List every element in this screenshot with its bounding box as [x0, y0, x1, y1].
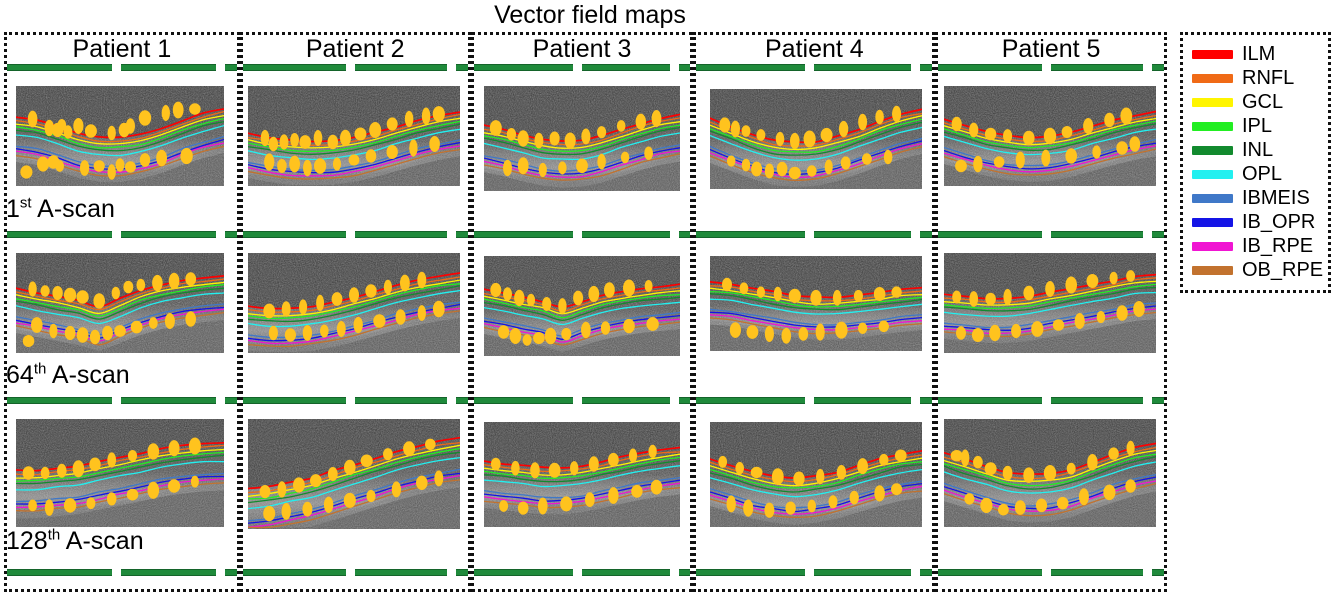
- row-label-64th-a-scan: 64th A-scan: [6, 362, 130, 389]
- vector-field-marker: [263, 506, 275, 521]
- vector-field-marker: [854, 290, 863, 302]
- patient-column-4[interactable]: Patient 4: [693, 32, 935, 592]
- legend-item-ib_opr[interactable]: IB_OPR: [1183, 210, 1328, 234]
- green-segment: [474, 569, 573, 576]
- vector-field-marker: [1053, 319, 1064, 331]
- vector-field-marker: [126, 118, 135, 134]
- legend-color-swatch: [1192, 266, 1233, 275]
- vector-field-marker: [576, 159, 588, 174]
- legend-item-gcl[interactable]: GCL: [1183, 90, 1328, 114]
- vector-field-marker: [558, 298, 566, 314]
- vector-field-marker: [517, 157, 528, 174]
- vector-field-marker: [517, 502, 528, 515]
- oct-b-scan-image[interactable]: [710, 256, 922, 351]
- vector-field-marker: [1117, 141, 1129, 154]
- vector-field-marker: [858, 323, 867, 334]
- green-segment-bar: [474, 397, 691, 404]
- vector-field-marker: [112, 287, 120, 300]
- vector-field-marker: [425, 439, 436, 450]
- vector-field-marker: [530, 462, 540, 478]
- vector-field-marker: [114, 325, 126, 337]
- vector-field-marker: [327, 135, 338, 150]
- oct-b-scan-image[interactable]: [484, 422, 680, 527]
- vector-field-marker: [829, 495, 838, 508]
- vector-field-marker: [259, 485, 270, 498]
- green-segment: [7, 231, 112, 238]
- vector-field-marker: [955, 160, 967, 172]
- row-label-128th-a-scan: 128th A-scan: [6, 528, 144, 555]
- vector-field-marker: [544, 328, 556, 345]
- vector-field-marker: [646, 317, 658, 331]
- vector-field-marker: [148, 443, 160, 459]
- patient-column-1[interactable]: Patient 1: [4, 32, 240, 592]
- vector-field-marker: [558, 161, 566, 174]
- oct-b-scan-image[interactable]: [16, 86, 224, 186]
- vector-field-marker: [429, 136, 440, 152]
- vector-field-marker: [859, 114, 868, 131]
- vector-field-marker: [73, 118, 83, 134]
- vector-field-marker: [93, 293, 105, 309]
- green-segment: [474, 397, 573, 404]
- vector-field-marker: [405, 111, 414, 127]
- vector-field-marker: [499, 500, 508, 512]
- green-segment-bar: [474, 231, 691, 238]
- vector-field-marker: [28, 281, 36, 296]
- legend-label: RNFL: [1242, 67, 1294, 89]
- vector-field-marker: [989, 325, 1000, 341]
- vector-field-marker: [522, 334, 531, 345]
- vector-field-marker: [1066, 148, 1078, 163]
- legend-label: ILM: [1242, 43, 1275, 65]
- vector-field-marker: [1097, 311, 1106, 323]
- vector-field-marker: [73, 460, 85, 477]
- vector-field-marker: [1036, 499, 1047, 513]
- vector-field-marker: [395, 309, 405, 325]
- green-segment: [121, 397, 216, 404]
- vector-field-marker: [497, 325, 508, 339]
- vector-field-marker: [608, 487, 618, 504]
- green-segment: [920, 569, 932, 576]
- oct-b-scan-image[interactable]: [248, 86, 460, 186]
- vector-field-marker: [774, 287, 782, 301]
- vector-field-marker: [1024, 286, 1035, 300]
- vector-field-marker: [94, 160, 105, 172]
- vector-field-marker: [985, 462, 997, 475]
- green-segment-bar: [243, 231, 468, 238]
- oct-b-scan-image[interactable]: [248, 419, 460, 529]
- vector-field-marker: [821, 128, 833, 142]
- green-segment: [225, 64, 237, 71]
- vector-field-marker: [1023, 131, 1035, 145]
- vector-field-marker: [1117, 305, 1128, 320]
- vector-field-marker: [956, 326, 966, 340]
- vector-field-marker: [169, 440, 180, 456]
- vector-field-marker: [148, 482, 160, 499]
- vector-field-marker: [635, 114, 645, 130]
- vector-field-marker: [644, 147, 653, 160]
- vector-field-marker: [299, 135, 311, 149]
- vector-field-marker: [833, 290, 842, 306]
- green-segment: [582, 231, 670, 238]
- vector-field-marker: [314, 158, 326, 174]
- vector-field-marker: [1031, 321, 1043, 337]
- vector-field-marker: [514, 290, 524, 306]
- vector-field-marker: [324, 497, 333, 513]
- oct-b-scan-image[interactable]: [710, 89, 922, 189]
- green-segment-bar: [7, 231, 237, 238]
- vector-field-marker: [23, 466, 35, 480]
- vector-field-marker: [588, 286, 599, 302]
- vector-field-marker: [581, 322, 591, 338]
- green-segment-bar: [938, 397, 1164, 404]
- vector-field-marker: [526, 294, 534, 306]
- vector-field-marker: [264, 153, 274, 170]
- vector-field-marker: [1003, 129, 1012, 143]
- vector-field-marker: [354, 128, 366, 141]
- vector-field-marker: [757, 129, 766, 141]
- vector-field-marker: [965, 493, 975, 504]
- vector-field-marker: [365, 149, 376, 162]
- oct-b-scan-image[interactable]: [484, 256, 680, 356]
- vector-field-marker: [794, 472, 805, 486]
- vector-field-marker: [136, 279, 145, 291]
- vector-field-marker: [752, 162, 763, 177]
- green-segment: [225, 569, 237, 576]
- green-segment: [243, 64, 346, 71]
- vector-field-marker: [720, 117, 731, 132]
- vector-field-marker: [799, 327, 809, 341]
- legend-label: IB_OPR: [1242, 211, 1315, 233]
- green-segment: [679, 231, 691, 238]
- green-segment: [582, 569, 670, 576]
- vector-field-marker: [185, 311, 196, 326]
- vector-field-marker: [503, 160, 512, 176]
- vector-field-marker: [892, 106, 901, 122]
- layer-legend: ILMRNFLGCLIPLINLOPLIBMEISIB_OPRIB_RPEOB_…: [1180, 32, 1331, 293]
- scan-cell-p4-r1[interactable]: [696, 64, 932, 231]
- vector-field-marker: [1015, 500, 1026, 515]
- vector-field-marker: [1016, 152, 1025, 169]
- scan-cell-p4-r3[interactable]: [696, 397, 932, 567]
- green-segment-bar: [696, 569, 932, 576]
- vector-field-marker: [623, 280, 635, 297]
- green-segment-bar: [696, 397, 932, 404]
- vector-field-marker: [876, 110, 885, 125]
- legend-item-opl[interactable]: OPL: [1183, 162, 1328, 186]
- vector-field-marker: [320, 325, 329, 338]
- green-segment: [920, 64, 932, 71]
- vector-field-marker: [107, 492, 117, 505]
- vector-field-marker: [65, 326, 76, 340]
- legend-item-ipl[interactable]: IPL: [1183, 114, 1328, 138]
- vector-field-marker: [64, 288, 76, 303]
- legend-item-rnfl[interactable]: RNFL: [1183, 66, 1328, 90]
- oct-b-scan-image[interactable]: [16, 253, 224, 353]
- vector-field-marker: [434, 470, 443, 486]
- vector-field-marker: [302, 325, 311, 341]
- vector-field-marker: [597, 154, 606, 170]
- vector-field-marker: [952, 291, 961, 304]
- vector-field-marker: [169, 273, 180, 290]
- vector-field-marker: [1024, 467, 1035, 483]
- vector-field-marker: [340, 130, 351, 146]
- vector-field-marker: [961, 450, 969, 467]
- vector-field-marker: [102, 326, 113, 341]
- patient-column-2[interactable]: Patient 2: [240, 32, 471, 592]
- vector-field-marker: [509, 328, 521, 344]
- vector-field-marker: [409, 139, 417, 156]
- vector-field-marker: [348, 154, 359, 165]
- vector-field-marker: [727, 495, 736, 512]
- vector-field-marker: [570, 461, 578, 475]
- green-segment: [456, 231, 468, 238]
- scan-cell-p2-r1[interactable]: [243, 64, 468, 231]
- green-segment: [1152, 569, 1164, 576]
- vector-field-marker: [884, 150, 893, 164]
- vector-field-marker: [862, 153, 872, 164]
- vector-field-marker: [777, 162, 788, 176]
- vector-field-marker: [969, 123, 978, 138]
- scan-cell-p5-r2[interactable]: [938, 231, 1164, 397]
- vector-field-marker: [149, 317, 158, 329]
- vector-field-marker: [162, 105, 170, 121]
- vector-field-marker: [644, 280, 652, 292]
- legend-label: IBMEIS: [1242, 187, 1310, 209]
- vector-field-marker: [337, 321, 346, 337]
- vector-field-marker: [417, 305, 425, 321]
- vector-field-marker: [383, 448, 393, 460]
- vector-field-marker: [816, 323, 825, 340]
- legend-item-ib_rpe[interactable]: IB_RPE: [1183, 234, 1328, 258]
- row-label-number: 1: [6, 195, 20, 223]
- green-segment: [582, 64, 670, 71]
- legend-label: IB_RPE: [1242, 235, 1313, 257]
- scan-cell-p5-r3[interactable]: [938, 397, 1164, 567]
- vector-field-marker: [127, 489, 139, 501]
- vector-field-marker: [20, 165, 32, 178]
- patient-column-3[interactable]: Patient 3: [471, 32, 694, 592]
- legend-color-swatch: [1192, 194, 1233, 203]
- vector-field-marker: [400, 275, 410, 292]
- vector-field-marker: [28, 111, 38, 128]
- vector-field-marker: [573, 291, 583, 306]
- oct-b-scan-image[interactable]: [484, 86, 680, 191]
- oct-b-scan-image[interactable]: [16, 419, 224, 527]
- vector-field-marker: [344, 460, 356, 475]
- vector-field-marker: [744, 500, 754, 517]
- green-segment-bar: [938, 64, 1164, 71]
- vector-field-marker: [277, 481, 286, 497]
- green-segment: [355, 64, 447, 71]
- green-segment-bar: [938, 569, 1164, 576]
- patient-column-title: Patient 5: [938, 35, 1164, 64]
- vector-field-marker: [517, 130, 528, 146]
- vector-field-marker: [281, 301, 290, 317]
- green-segment: [1051, 397, 1144, 404]
- vector-field-marker: [365, 284, 376, 298]
- vector-field-marker: [1083, 118, 1093, 134]
- row-label-text: A-scan: [60, 527, 143, 555]
- vector-field-marker: [789, 289, 801, 303]
- scan-cell-p2-r3[interactable]: [243, 397, 468, 567]
- green-segment: [121, 569, 216, 576]
- vector-field-marker: [811, 290, 822, 306]
- legend-item-inl[interactable]: INL: [1183, 138, 1328, 162]
- vector-field-marker: [952, 117, 962, 132]
- patient-column-5[interactable]: Patient 5: [935, 32, 1167, 592]
- green-segment: [938, 231, 1041, 238]
- vector-field-marker: [384, 280, 392, 294]
- vector-field-marker: [422, 108, 431, 125]
- vector-field-marker: [403, 441, 415, 456]
- row-label-ordinal: th: [48, 527, 61, 544]
- vector-field-marker: [804, 131, 816, 148]
- scan-cell-p5-r1[interactable]: [938, 64, 1164, 231]
- vector-field-marker: [31, 317, 43, 333]
- vector-field-marker: [80, 160, 89, 176]
- vector-field-marker: [808, 500, 816, 513]
- green-segment-bar: [7, 569, 237, 576]
- green-segment: [938, 64, 1041, 71]
- vector-field-marker: [765, 503, 775, 518]
- green-segment: [243, 397, 346, 404]
- vector-field-marker: [303, 160, 312, 177]
- vector-field-marker: [742, 159, 751, 172]
- vector-field-marker: [850, 491, 859, 505]
- green-segment: [456, 397, 468, 404]
- vector-field-marker: [616, 120, 625, 132]
- vector-field-marker: [290, 133, 299, 147]
- scan-cell-p3-r2[interactable]: [474, 231, 691, 397]
- green-segment: [1051, 64, 1144, 71]
- green-segment: [474, 64, 573, 71]
- vector-field-marker: [1127, 441, 1135, 456]
- patient-column-title: Patient 2: [243, 35, 468, 64]
- vector-field-marker: [123, 281, 133, 294]
- vector-field-marker: [538, 163, 546, 177]
- vector-field-marker: [139, 110, 151, 125]
- green-segment: [696, 569, 804, 576]
- vector-field-marker: [55, 160, 64, 172]
- vector-field-marker: [185, 272, 196, 285]
- vector-field-marker: [751, 467, 763, 478]
- vector-field-marker: [41, 467, 50, 479]
- figure-title: Vector field maps: [0, 1, 1180, 30]
- vector-field-marker: [981, 498, 993, 513]
- vector-field-marker: [789, 167, 801, 179]
- vector-field-marker: [1126, 270, 1135, 282]
- legend-item-ob_rpe[interactable]: OB_RPE: [1183, 258, 1328, 282]
- vector-field-marker: [417, 272, 426, 289]
- vector-field-marker: [1062, 126, 1073, 138]
- row-label-text: A-scan: [46, 361, 129, 389]
- vector-field-marker: [90, 330, 100, 345]
- vector-field-marker: [281, 503, 290, 520]
- oct-b-scan-image[interactable]: [944, 253, 1156, 353]
- vector-field-marker: [289, 156, 300, 173]
- oct-b-scan-image[interactable]: [944, 419, 1156, 527]
- green-segment: [121, 64, 216, 71]
- row-label-ordinal: st: [20, 195, 32, 212]
- legend-item-ibmeis[interactable]: IBMEIS: [1183, 186, 1328, 210]
- green-segment: [225, 231, 237, 238]
- vector-field-marker: [807, 165, 817, 176]
- vector-field-marker: [892, 286, 902, 297]
- vector-field-marker: [534, 133, 543, 149]
- green-segment-bar: [474, 569, 691, 576]
- vector-field-marker: [816, 469, 824, 484]
- vector-field-marker: [128, 450, 137, 461]
- green-segment-bar: [696, 64, 932, 71]
- vector-field-marker: [310, 474, 322, 487]
- vector-field-marker: [343, 493, 355, 508]
- oct-b-scan-image[interactable]: [248, 253, 460, 353]
- vector-field-marker: [49, 324, 57, 339]
- vector-field-marker: [597, 126, 606, 138]
- vector-field-marker: [86, 497, 95, 509]
- vector-field-marker: [742, 125, 751, 137]
- vector-field-marker: [1130, 136, 1141, 151]
- oct-b-scan-image[interactable]: [944, 86, 1156, 186]
- vector-field-marker: [765, 326, 774, 342]
- scan-cell-p3-r1[interactable]: [474, 64, 691, 231]
- vector-field-marker: [765, 164, 774, 179]
- vector-field-marker: [1109, 447, 1119, 459]
- green-segment: [1152, 397, 1164, 404]
- scan-cell-p3-r3[interactable]: [474, 397, 691, 567]
- vector-field-marker: [951, 450, 963, 461]
- vector-field-marker: [386, 117, 397, 130]
- legend-item-ilm[interactable]: ILM: [1183, 42, 1328, 66]
- scan-cell-p4-r2[interactable]: [696, 231, 932, 397]
- scan-cell-p2-r2[interactable]: [243, 231, 468, 397]
- green-segment: [7, 397, 112, 404]
- legend-color-swatch: [1192, 170, 1233, 179]
- green-segment: [1051, 569, 1144, 576]
- vector-field-marker: [108, 126, 116, 141]
- vector-field-marker: [998, 504, 1009, 516]
- vector-field-marker: [349, 287, 359, 303]
- vector-field-marker: [165, 313, 175, 329]
- vector-field-marker: [269, 326, 278, 340]
- vector-field-marker: [41, 285, 50, 296]
- green-segment: [920, 231, 932, 238]
- patient-column-title: Patient 1: [7, 35, 237, 64]
- vector-field-marker: [37, 156, 49, 171]
- green-segment: [814, 569, 911, 576]
- green-segment-bar: [243, 569, 468, 576]
- green-segment: [7, 569, 112, 576]
- vector-field-marker: [790, 133, 800, 149]
- vector-field-marker: [560, 496, 572, 511]
- legend-color-swatch: [1192, 74, 1233, 83]
- vector-field-marker: [489, 120, 501, 136]
- vector-field-marker: [548, 463, 560, 478]
- vector-field-marker: [416, 476, 428, 490]
- vector-field-marker: [131, 321, 143, 334]
- green-segment: [225, 397, 237, 404]
- oct-b-scan-image[interactable]: [710, 422, 922, 527]
- row-label-text: A-scan: [32, 195, 115, 223]
- vector-field-marker: [366, 490, 375, 502]
- green-segment: [243, 231, 346, 238]
- vector-field-marker: [1087, 274, 1099, 288]
- vector-field-marker: [45, 499, 54, 516]
- vector-field-marker: [588, 456, 598, 471]
- vector-field-marker: [386, 145, 397, 159]
- vector-field-marker: [23, 335, 35, 347]
- legend-label: OPL: [1242, 163, 1282, 185]
